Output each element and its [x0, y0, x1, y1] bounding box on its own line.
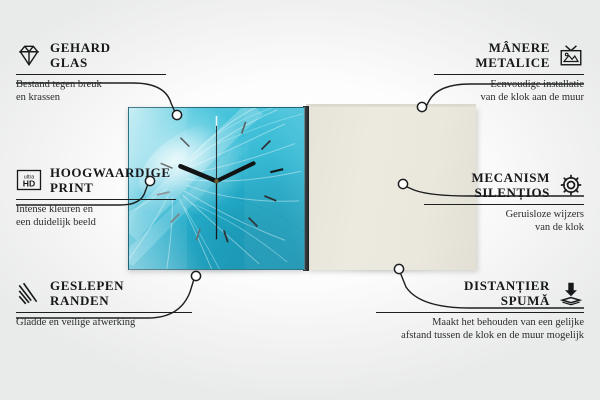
- feature-divider: [376, 312, 584, 313]
- feature-description: Geruisloze wijzers van de klok: [424, 209, 584, 234]
- feature-description: Bestand tegen breuk en krassen: [16, 79, 166, 104]
- feature-title: HOOGWAARDIGE PRINT: [50, 165, 171, 195]
- feature-header: GESLEPEN RANDEN: [16, 278, 192, 308]
- feature-title: GESLEPEN RANDEN: [50, 278, 124, 308]
- diamond-icon: [16, 42, 42, 68]
- feature-mecanism-silentios[interactable]: MECANISM SILENȚIOS Geruisloze wijzers va…: [424, 170, 584, 234]
- feature-manere-metalice[interactable]: MÂNERE METALICE Eenvoudige installatie v…: [434, 40, 584, 104]
- feature-header: GEHARD GLAS: [16, 40, 166, 70]
- gear-icon: [558, 172, 584, 198]
- feature-divider: [16, 74, 166, 75]
- feature-divider: [434, 74, 584, 75]
- infographic-canvas: GEHARD GLAS Bestand tegen breuk en krass…: [0, 0, 600, 400]
- clock-hands: [180, 126, 253, 240]
- feature-divider: [16, 312, 192, 313]
- ultra-hd-icon: ultra HD: [16, 167, 42, 193]
- svg-text:HD: HD: [23, 179, 35, 189]
- feature-description: Gladde en veilige afwerking: [16, 317, 192, 330]
- feature-header: MECANISM SILENȚIOS: [424, 170, 584, 200]
- feature-description: Intense kleuren en een duidelijk beeld: [16, 204, 176, 229]
- arrow-down-layers-icon: [558, 280, 584, 306]
- feature-gehard-glas[interactable]: GEHARD GLAS Bestand tegen breuk en krass…: [16, 40, 166, 104]
- feature-hoogwaardige-print[interactable]: ultra HD HOOGWAARDIGE PRINT Intense kleu…: [16, 165, 176, 229]
- feature-title: GEHARD GLAS: [50, 40, 111, 70]
- feature-title: MÂNERE METALICE: [475, 40, 550, 70]
- feature-divider: [424, 204, 584, 205]
- diagonal-lines-icon: [16, 280, 42, 306]
- feature-header: DISTANȚIER SPUMĂ: [376, 278, 584, 308]
- feature-geslepen-randen[interactable]: GESLEPEN RANDEN Gladde en veilige afwerk…: [16, 278, 192, 330]
- feature-description: Maakt het behouden van een gelijke afsta…: [376, 317, 584, 342]
- feature-title: MECANISM SILENȚIOS: [472, 170, 550, 200]
- feature-divider: [16, 199, 176, 200]
- feature-title: DISTANȚIER SPUMĂ: [464, 278, 550, 308]
- feature-header: ultra HD HOOGWAARDIGE PRINT: [16, 165, 176, 195]
- picture-frame-hook-icon: [558, 42, 584, 68]
- feature-header: MÂNERE METALICE: [434, 40, 584, 70]
- feature-distantier-spuma[interactable]: DISTANȚIER SPUMĂ Maakt het behouden van …: [376, 278, 584, 342]
- feature-description: Eenvoudige installatie van de klok aan d…: [434, 79, 584, 104]
